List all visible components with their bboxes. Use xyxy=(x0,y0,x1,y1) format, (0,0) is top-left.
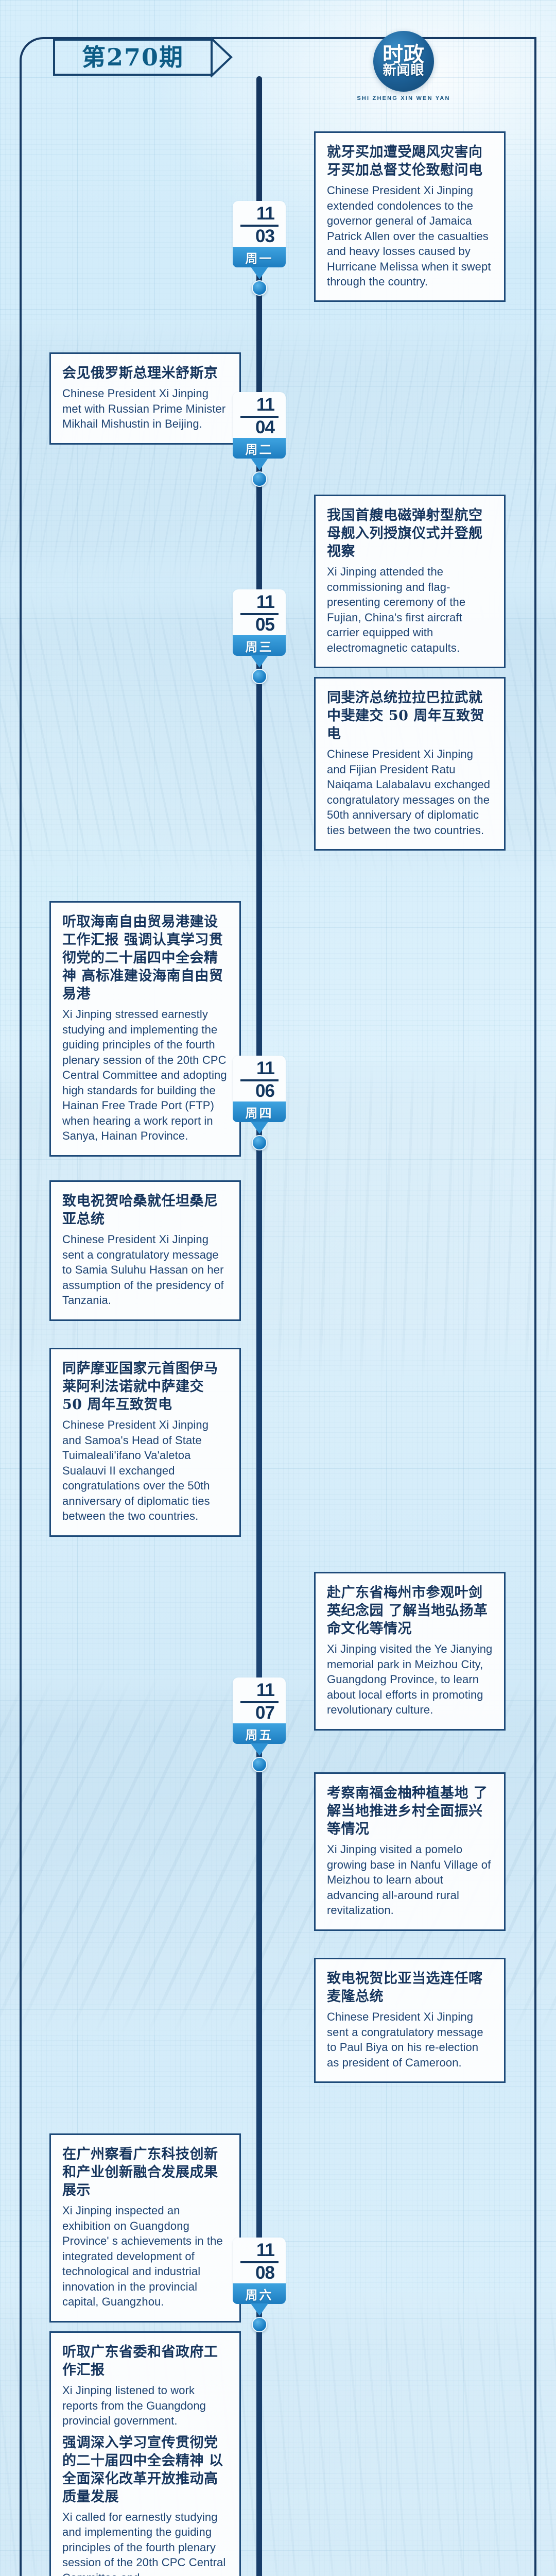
news-card-title-cn: 在广州察看广东科技创新和产业创新融合发展成果展示 xyxy=(62,2145,228,2199)
news-card-title-cn: 致电祝贺比亚当选连任喀麦隆总统 xyxy=(327,1970,493,2006)
news-card[interactable]: 就牙买加遭受飓风灾害向牙买加总督艾伦致慰问电Chinese President … xyxy=(314,131,506,302)
poster-header: 第270期 时政 新闻眼 SHI ZHENG XIN WEN YAN xyxy=(0,0,556,155)
news-card-body-en: Xi Jinping inspected an exhibition on Gu… xyxy=(62,2203,228,2309)
date-weekday: 周五 xyxy=(233,1723,286,1744)
timeline-node-dot-icon xyxy=(252,1135,267,1150)
news-card[interactable]: 在广州察看广东科技创新和产业创新融合发展成果展示Xi Jinping inspe… xyxy=(49,2133,241,2323)
timeline-date-marker[interactable]: 1107周五 xyxy=(233,1677,286,1772)
news-card[interactable]: 会见俄罗斯总理米舒斯京Chinese President Xi Jinping … xyxy=(49,352,241,445)
news-card-body-en: Chinese President Xi Jinping sent a cong… xyxy=(62,1232,228,1308)
date-marker-top: 1108 xyxy=(233,2238,286,2283)
date-marker-pointer-icon xyxy=(251,1122,268,1134)
date-day: 04 xyxy=(255,419,274,436)
date-marker-top: 1107 xyxy=(233,1677,286,1723)
date-weekday: 周一 xyxy=(233,247,286,267)
date-day: 07 xyxy=(255,1704,274,1722)
news-card[interactable]: 我国首艘电磁弹射型航空母舰入列授旗仪式并登舰视察Xi Jinping atten… xyxy=(314,495,506,668)
news-card[interactable]: 致电祝贺哈桑就任坦桑尼亚总统Chinese President Xi Jinpi… xyxy=(49,1180,241,1321)
poster-frame-right-edge xyxy=(534,37,536,2576)
news-card-body-en: Chinese President Xi Jinping and Fijian … xyxy=(327,747,493,838)
news-card-body-en: Chinese President Xi Jinping met with Ru… xyxy=(62,386,228,431)
date-weekday: 周三 xyxy=(233,635,286,656)
date-marker-pointer-icon xyxy=(251,267,268,279)
news-card[interactable]: 致电祝贺比亚当选连任喀麦隆总统Chinese President Xi Jinp… xyxy=(314,1958,506,2083)
issue-badge-arrow-icon xyxy=(211,37,234,78)
date-day: 03 xyxy=(255,228,274,245)
news-card-body-en: Xi Jinping attended the commissioning an… xyxy=(327,564,493,655)
logo-circle-icon: 时政 新闻眼 xyxy=(373,31,434,92)
date-weekday: 周六 xyxy=(233,2283,286,2304)
news-card-title-cn: 赴广东省梅州市参观叶剑英纪念园 了解当地弘扬革命文化等情况 xyxy=(327,1584,493,1638)
logo-pinyin: SHI ZHENG XIN WEN YAN xyxy=(357,95,450,101)
date-month: 11 xyxy=(256,396,275,414)
date-day: 05 xyxy=(255,616,274,634)
news-card[interactable]: 听取广东省委和省政府工作汇报Xi Jinping listened to wor… xyxy=(49,2331,241,2576)
news-card-title-cn: 听取广东省委和省政府工作汇报 xyxy=(62,2343,228,2379)
news-card[interactable]: 同萨摩亚国家元首图伊马莱阿利法诺就中萨建交 50 周年互致贺电Chinese P… xyxy=(49,1348,241,1537)
news-card-body-en: Xi Jinping visited the Ye Jianying memor… xyxy=(327,1641,493,1717)
news-card-title-cn: 听取海南自由贸易港建设工作汇报 强调认真学习贯彻党的二十届四中全会精神 高标准建… xyxy=(62,913,228,1003)
news-card-title-cn: 会见俄罗斯总理米舒斯京 xyxy=(62,364,228,382)
date-weekday: 周二 xyxy=(233,438,286,459)
date-marker-top: 1104 xyxy=(233,392,286,438)
date-marker-pointer-icon xyxy=(251,655,268,668)
news-card[interactable]: 考察南福金柚种植基地 了解当地推进乡村全面振兴等情况Xi Jinping vis… xyxy=(314,1772,506,1931)
news-card-body-en: Chinese President Xi Jinping extended co… xyxy=(327,183,493,289)
issue-label: 第270期 xyxy=(82,45,184,69)
timeline-date-marker[interactable]: 1104周二 xyxy=(233,392,286,487)
timeline-node-dot-icon xyxy=(252,280,267,296)
news-card-title-cn-secondary: 强调深入学习宣传贯彻党的二十届四中全会精神 以全面深化改革开放推动高质量发展 xyxy=(62,2434,228,2506)
date-day: 06 xyxy=(255,1082,274,1100)
news-card-body-en: Xi Jinping listened to work reports from… xyxy=(62,2383,228,2428)
timeline-node-dot-icon xyxy=(252,2317,267,2332)
date-day: 08 xyxy=(255,2264,274,2282)
news-card[interactable]: 听取海南自由贸易港建设工作汇报 强调认真学习贯彻党的二十届四中全会精神 高标准建… xyxy=(49,901,241,1157)
news-card-body-en: Chinese President Xi Jinping sent a cong… xyxy=(327,2009,493,2070)
date-marker-top: 1105 xyxy=(233,589,286,635)
timeline-date-marker[interactable]: 1103周一 xyxy=(233,201,286,296)
news-card-title-cn: 我国首艘电磁弹射型航空母舰入列授旗仪式并登舰视察 xyxy=(327,506,493,561)
date-month: 11 xyxy=(256,1682,275,1699)
logo-line-2: 新闻眼 xyxy=(383,64,425,77)
news-card-body-en: Xi Jinping stressed earnestly studying a… xyxy=(62,1007,228,1143)
date-marker-pointer-icon xyxy=(251,1743,268,1756)
news-card-title-cn: 致电祝贺哈桑就任坦桑尼亚总统 xyxy=(62,1192,228,1228)
timeline-date-marker[interactable]: 1105周三 xyxy=(233,589,286,684)
date-marker-top: 1106 xyxy=(233,1056,286,1101)
issue-badge: 第270期 xyxy=(53,39,213,76)
news-card-body-en: Chinese President Xi Jinping and Samoa's… xyxy=(62,1417,228,1523)
news-card[interactable]: 同斐济总统拉拉巴拉武就中斐建交 50 周年互致贺电Chinese Preside… xyxy=(314,677,506,851)
timeline-node-dot-icon xyxy=(252,471,267,487)
date-marker-top: 1103 xyxy=(233,201,286,247)
timeline-date-marker[interactable]: 1106周四 xyxy=(233,1056,286,1150)
date-weekday: 周四 xyxy=(233,1101,286,1122)
news-card-body-en: Xi Jinping visited a pomelo growing base… xyxy=(327,1842,493,1918)
date-marker-pointer-icon xyxy=(251,458,268,470)
timeline-node-dot-icon xyxy=(252,1757,267,1772)
news-card-title-cn: 同斐济总统拉拉巴拉武就中斐建交 50 周年互致贺电 xyxy=(327,689,493,743)
date-month: 11 xyxy=(256,594,275,611)
program-logo: 时政 新闻眼 SHI ZHENG XIN WEN YAN xyxy=(360,30,447,102)
news-card-title-cn: 同萨摩亚国家元首图伊马莱阿利法诺就中萨建交 50 周年互致贺电 xyxy=(62,1360,228,1414)
date-month: 11 xyxy=(256,1060,275,1077)
logo-line-1: 时政 xyxy=(383,45,425,64)
news-card[interactable]: 赴广东省梅州市参观叶剑英纪念园 了解当地弘扬革命文化等情况Xi Jinping … xyxy=(314,1572,506,1731)
date-month: 11 xyxy=(256,205,275,223)
news-card-title-cn: 考察南福金柚种植基地 了解当地推进乡村全面振兴等情况 xyxy=(327,1784,493,1838)
timeline-date-marker[interactable]: 1108周六 xyxy=(233,2238,286,2332)
date-marker-pointer-icon xyxy=(251,2303,268,2316)
date-month: 11 xyxy=(256,2242,275,2259)
timeline-node-dot-icon xyxy=(252,669,267,684)
news-card-body-en-secondary: Xi called for earnestly studying and imp… xyxy=(62,2510,228,2576)
